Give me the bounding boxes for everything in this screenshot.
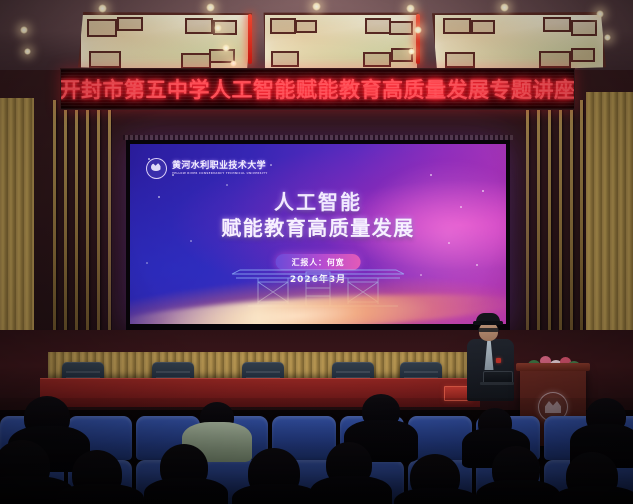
screen-top-rail [123, 135, 513, 140]
cap-icon [476, 313, 500, 324]
downlight [312, 2, 321, 11]
glasses-icon [478, 328, 499, 332]
downlight [596, 10, 604, 18]
ceiling-accent-light [416, 14, 420, 64]
projection-screen: 黄河水利职业技术大学 YELLOW RIVER CONSERVANCY TECH… [126, 140, 510, 330]
audience-shoulders [310, 476, 392, 504]
laptop-base [480, 382, 514, 385]
led-banner: 开封市第五中学人工智能赋能教育高质量发展专题讲座 [60, 68, 575, 110]
seated-audience [0, 398, 633, 504]
backlit-ceiling-panel [78, 12, 252, 72]
university-logo: 黄河水利职业技术大学 YELLOW RIVER CONSERVANCY TECH… [146, 158, 268, 179]
banner-text: 开封市第五中学人工智能赋能教育高质量发展专题讲座 [60, 74, 575, 104]
downlight [500, 3, 509, 12]
audience-shoulders [552, 486, 633, 504]
downlight [604, 34, 611, 41]
downlight [206, 3, 215, 12]
audience-shoulders [144, 478, 228, 504]
downlight [24, 48, 31, 55]
audience-shoulders [232, 484, 320, 504]
lecture-hall-photo: 开封市第五中学人工智能赋能教育高质量发展专题讲座 [0, 0, 633, 504]
downlight [222, 44, 230, 52]
downlight [20, 26, 28, 34]
laptop [480, 371, 514, 385]
downlight [406, 4, 415, 13]
downlight [414, 26, 422, 34]
university-name-cn: 黄河水利职业技术大学 [172, 162, 268, 171]
presenter [465, 313, 517, 409]
podium-top [516, 363, 590, 371]
presenter-badge-pin [496, 358, 501, 363]
ceiling [0, 0, 633, 78]
slide-title-line1: 人工智能 [130, 190, 506, 215]
university-name-en: YELLOW RIVER CONSERVANCY TECHNICAL UNIVE… [172, 173, 268, 176]
university-logo-mark [146, 158, 167, 179]
ceiling-accent-light [248, 14, 252, 64]
backlit-ceiling-panel [432, 12, 606, 72]
downlight [230, 60, 237, 67]
audience-shoulders [56, 484, 144, 504]
downlight [408, 48, 415, 55]
audience-shoulders [476, 480, 560, 504]
backlit-ceiling-panel [262, 12, 420, 72]
downlight [98, 4, 107, 13]
presentation-slide: 黄河水利职业技术大学 YELLOW RIVER CONSERVANCY TECH… [130, 144, 506, 324]
slide-title-block: 人工智能 赋能教育高质量发展 [130, 190, 506, 241]
slide-title-line2: 赋能教育高质量发展 [130, 215, 506, 241]
audience-shoulders [394, 488, 480, 504]
downlight [214, 24, 222, 32]
